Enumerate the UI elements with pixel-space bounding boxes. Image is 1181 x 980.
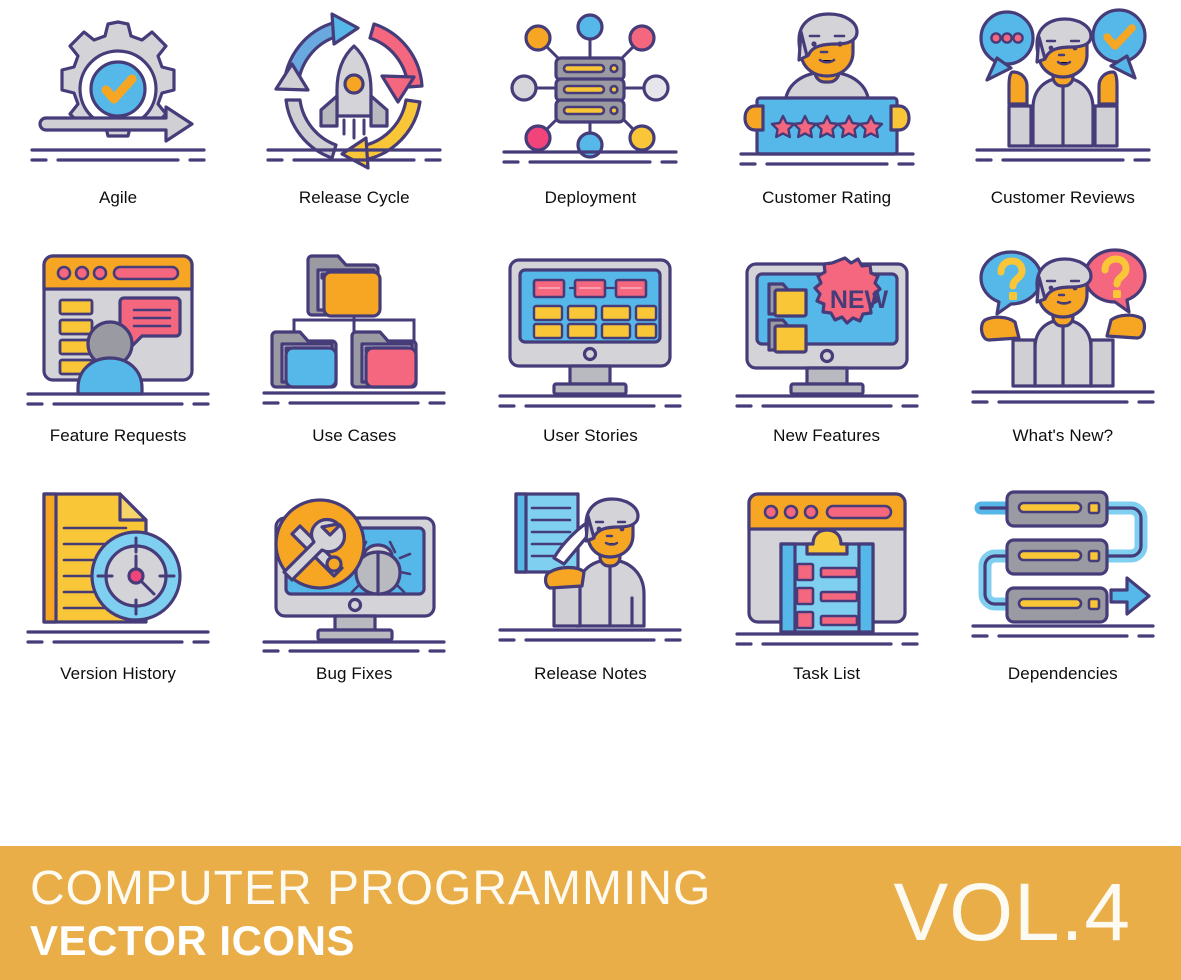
icon-label: What's New? [1012, 426, 1113, 446]
icon-label: Customer Rating [762, 188, 891, 208]
icon-card-feature-requests[interactable]: Feature Requests [0, 238, 236, 476]
folder-hierarchy-icon [254, 244, 454, 414]
icon-sheet: Agile [0, 0, 1181, 980]
icon-label: Release Cycle [299, 188, 410, 208]
gear-check-arrow-icon [18, 6, 218, 176]
icon-card-customer-rating[interactable]: Customer Rating [709, 0, 945, 238]
icon-label: Deployment [545, 188, 637, 208]
person-document-quill-icon [490, 482, 690, 652]
icon-label: Use Cases [312, 426, 396, 446]
icon-card-use-cases[interactable]: Use Cases [236, 238, 472, 476]
servers-linked-arrow-icon [963, 482, 1163, 652]
icon-label: Version History [60, 664, 176, 684]
icon-card-release-cycle[interactable]: Release Cycle [236, 0, 472, 238]
icon-label: Bug Fixes [316, 664, 393, 684]
icon-label: User Stories [543, 426, 638, 446]
icon-label: New Features [773, 426, 880, 446]
banner-volume-label: VOL.4 [894, 870, 1149, 956]
icon-card-agile[interactable]: Agile [0, 0, 236, 238]
icon-card-whats-new[interactable]: What's New? [945, 238, 1181, 476]
monitor-new-badge-icon: NEW [727, 244, 927, 414]
bottom-banner: COMPUTER PROGRAMMING VECTOR ICONS VOL.4 [0, 846, 1181, 980]
icon-card-version-history[interactable]: Version History [0, 476, 236, 714]
icon-label: Feature Requests [50, 426, 187, 446]
icon-label: Dependencies [1008, 664, 1118, 684]
icon-label: Agile [99, 188, 137, 208]
icon-card-bug-fixes[interactable]: Bug Fixes [236, 476, 472, 714]
banner-title-secondary: VECTOR ICONS [30, 918, 711, 964]
banner-title-block: COMPUTER PROGRAMMING VECTOR ICONS [30, 862, 711, 964]
icon-label: Release Notes [534, 664, 647, 684]
icon-label: Customer Reviews [991, 188, 1135, 208]
document-clock-icon [18, 482, 218, 652]
icon-card-dependencies[interactable]: Dependencies [945, 476, 1181, 714]
icon-card-task-list[interactable]: Task List [709, 476, 945, 714]
person-speech-bubbles-icon [963, 6, 1163, 176]
monitor-bug-tools-icon [254, 482, 454, 652]
icon-card-release-notes[interactable]: Release Notes [472, 476, 708, 714]
new-badge-text: NEW [829, 286, 888, 314]
icon-card-deployment[interactable]: Deployment [472, 0, 708, 238]
browser-clipboard-icon [727, 482, 927, 652]
icon-grid: Agile [0, 0, 1181, 714]
server-network-nodes-icon [490, 6, 690, 176]
icon-label: Task List [793, 664, 860, 684]
rocket-cycle-arrows-icon [254, 6, 454, 176]
monitor-flowchart-icon [490, 244, 690, 414]
icon-card-customer-reviews[interactable]: Customer Reviews [945, 0, 1181, 238]
person-question-bubbles-icon [963, 244, 1163, 414]
person-stars-board-icon [727, 6, 927, 176]
icon-card-user-stories[interactable]: User Stories [472, 238, 708, 476]
browser-user-chat-icon [18, 244, 218, 414]
icon-card-new-features[interactable]: NEW New Features [709, 238, 945, 476]
banner-title-primary: COMPUTER PROGRAMMING [30, 862, 711, 916]
